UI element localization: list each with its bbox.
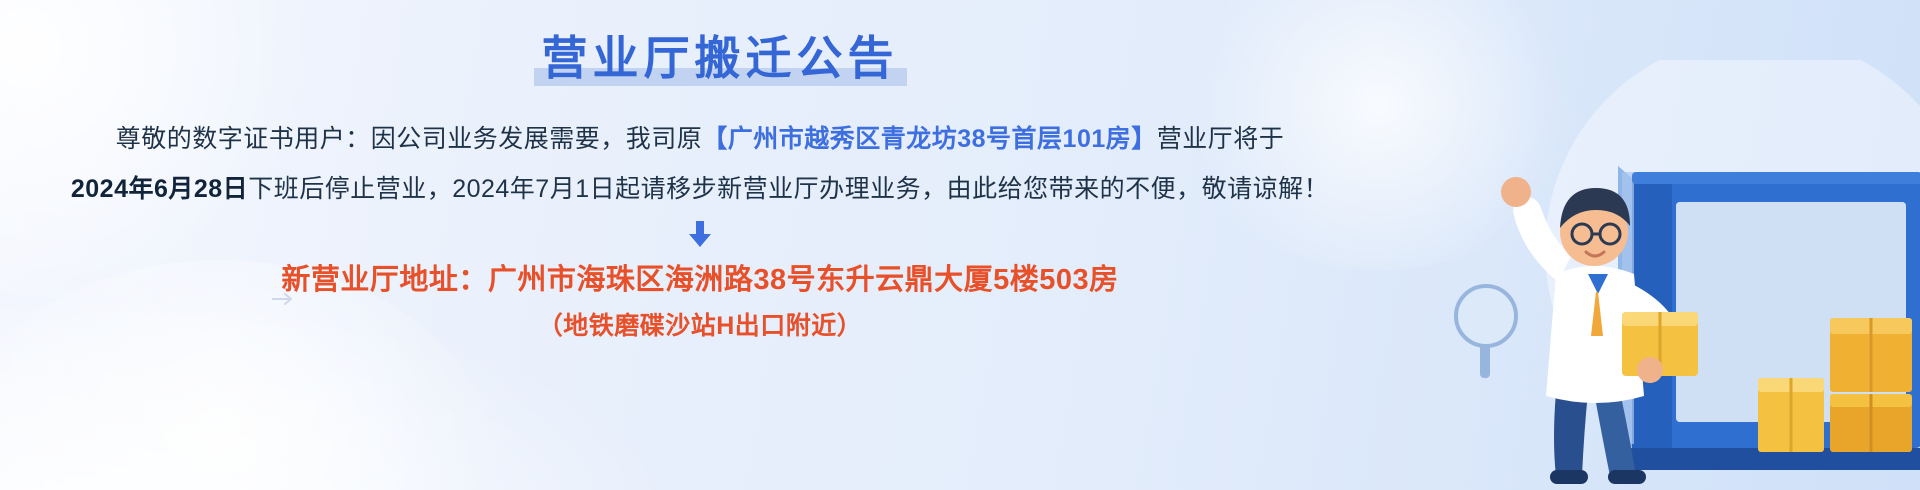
- page-title: 营业厅搬迁公告: [542, 30, 899, 88]
- relocation-announcement-banner: 营业厅搬迁公告 尊敬的数字证书用户：因公司业务发展需要，我司原【广州市越秀区青龙…: [0, 0, 1920, 490]
- paragraph-line-1-text-b: 营业厅将于: [1157, 125, 1285, 153]
- truck-side-mirror: [1456, 286, 1516, 378]
- small-arrow-right-icon: [272, 292, 298, 306]
- moving-truck-illustration: [1360, 60, 1920, 490]
- paragraph-line-1: 尊敬的数字证书用户：因公司业务发展需要，我司原【广州市越秀区青龙坊38号首层10…: [0, 114, 1400, 164]
- old-office-address-highlight: 【广州市越秀区青龙坊38号首层101房】: [702, 125, 1157, 153]
- page-title-wrapper: 营业厅搬迁公告: [542, 30, 899, 88]
- new-office-address-note: （地铁磨碟沙站H出口附近）: [0, 306, 1400, 342]
- announcement-paragraph: 尊敬的数字证书用户：因公司业务发展需要，我司原【广州市越秀区青龙坊38号首层10…: [0, 114, 1400, 214]
- arrow-down-icon: [0, 216, 1400, 250]
- paragraph-line-2: 2024年6月28日下班后停止营业，2024年7月1日起请移步新营业厅办理业务，…: [0, 164, 1400, 214]
- delivery-person: [1501, 177, 1698, 484]
- cardboard-boxes: [1758, 318, 1912, 452]
- announcement-content: 营业厅搬迁公告 尊敬的数字证书用户：因公司业务发展需要，我司原【广州市越秀区青龙…: [0, 0, 1400, 490]
- paragraph-line-2-text-b: 下班后停止营业，2024年7月1日起请移步新营业厅办理业务，由此给您带来的不便，…: [248, 175, 1329, 203]
- paragraph-line-1-text-a: 尊敬的数字证书用户：因公司业务发展需要，我司原: [116, 125, 703, 153]
- closing-date-highlight: 2024年6月28日: [71, 175, 248, 203]
- delivery-truck: [1618, 166, 1920, 470]
- new-office-address: 新营业厅地址：广州市海珠区海洲路38号东升云鼎大厦5楼503房: [0, 256, 1400, 298]
